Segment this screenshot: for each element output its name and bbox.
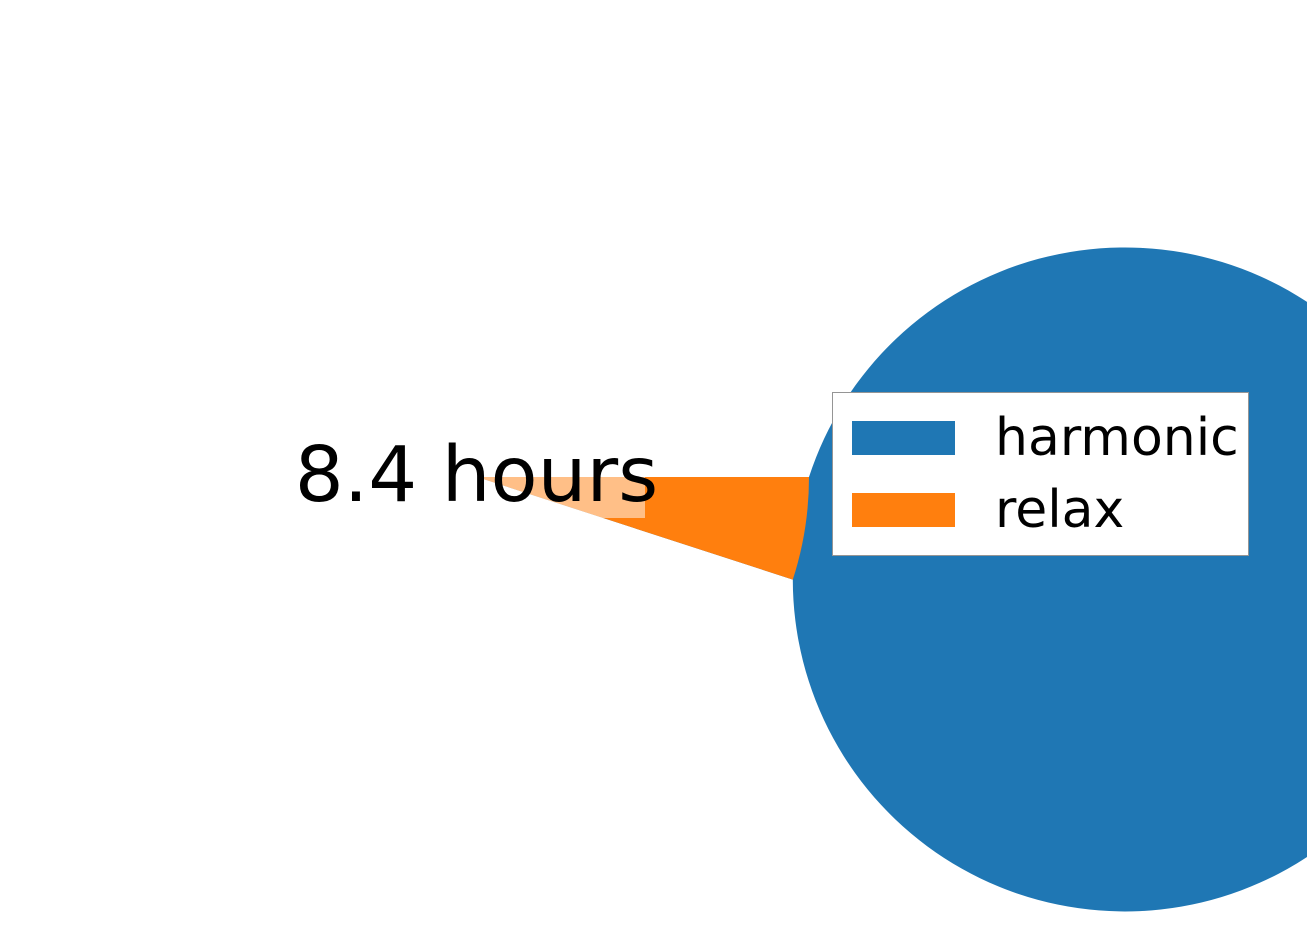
wedge-value-label-text: 8.4 hours (295, 437, 658, 514)
legend-item-relax[interactable]: relax (833, 486, 1248, 534)
legend-label-harmonic: harmonic (995, 412, 1239, 464)
legend-label-relax: relax (995, 484, 1124, 536)
wedge-value-label-harmonic: 8.4 hours (308, 432, 645, 518)
pie-wedge-harmonic[interactable] (477, 247, 1307, 911)
legend-swatch-relax (852, 493, 955, 527)
legend-swatch-harmonic (852, 421, 955, 455)
legend: harmonic relax (832, 392, 1249, 556)
figure-canvas: 8.4 hours harmonic relax (0, 0, 1307, 951)
legend-item-harmonic[interactable]: harmonic (833, 414, 1248, 462)
